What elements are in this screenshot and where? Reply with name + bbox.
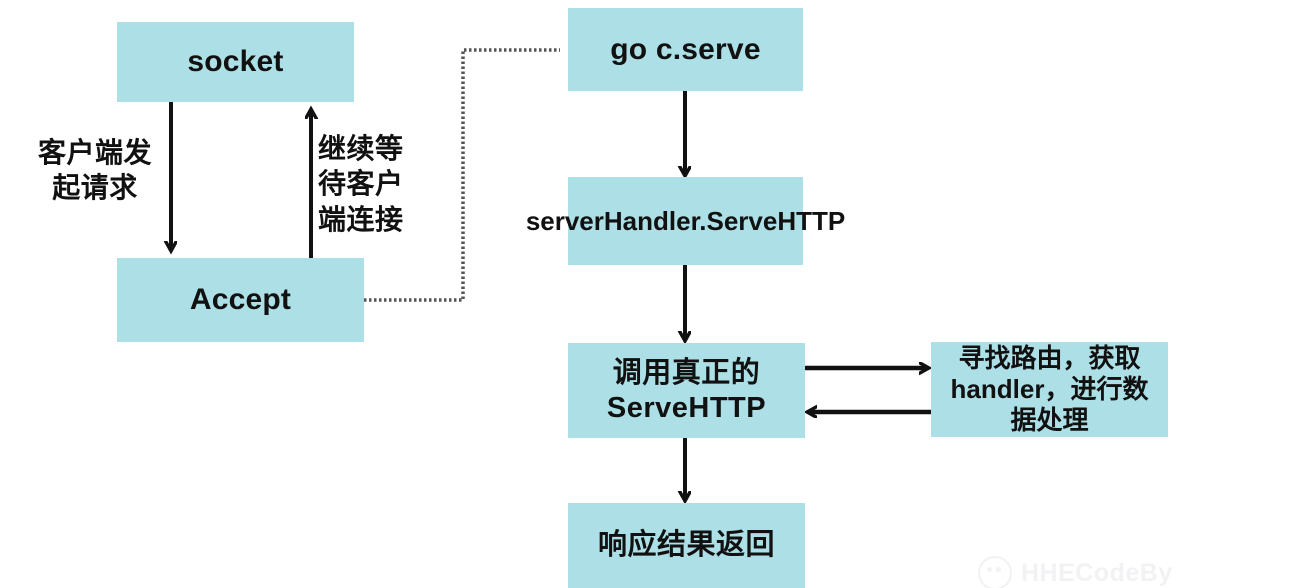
wechat-icon [978, 556, 1012, 588]
edge-label-keep-waiting: 继续等 待客户 端连接 [318, 131, 424, 237]
node-accept[interactable]: Accept [117, 258, 364, 342]
node-socket[interactable]: socket [117, 22, 354, 102]
node-find-route-handler[interactable]: 寻找路由，获取 handler，进行数 据处理 [931, 342, 1168, 437]
node-call-real-serve-http[interactable]: 调用真正的 ServeHTTP [568, 343, 805, 438]
node-go-c-serve[interactable]: go c.serve [568, 8, 803, 91]
edge-label-client-request: 客户端发 起请求 [20, 135, 170, 206]
node-server-handler-serve-http[interactable]: serverHandler.ServeHTTP [568, 177, 803, 265]
node-response-return[interactable]: 响应结果返回 [568, 503, 805, 588]
watermark-text: HHECodeBy [1021, 559, 1173, 588]
watermark: HHECodeBy [978, 556, 1173, 588]
diagram-canvas: socket Accept go c.serve serverHandler.S… [0, 0, 1294, 588]
